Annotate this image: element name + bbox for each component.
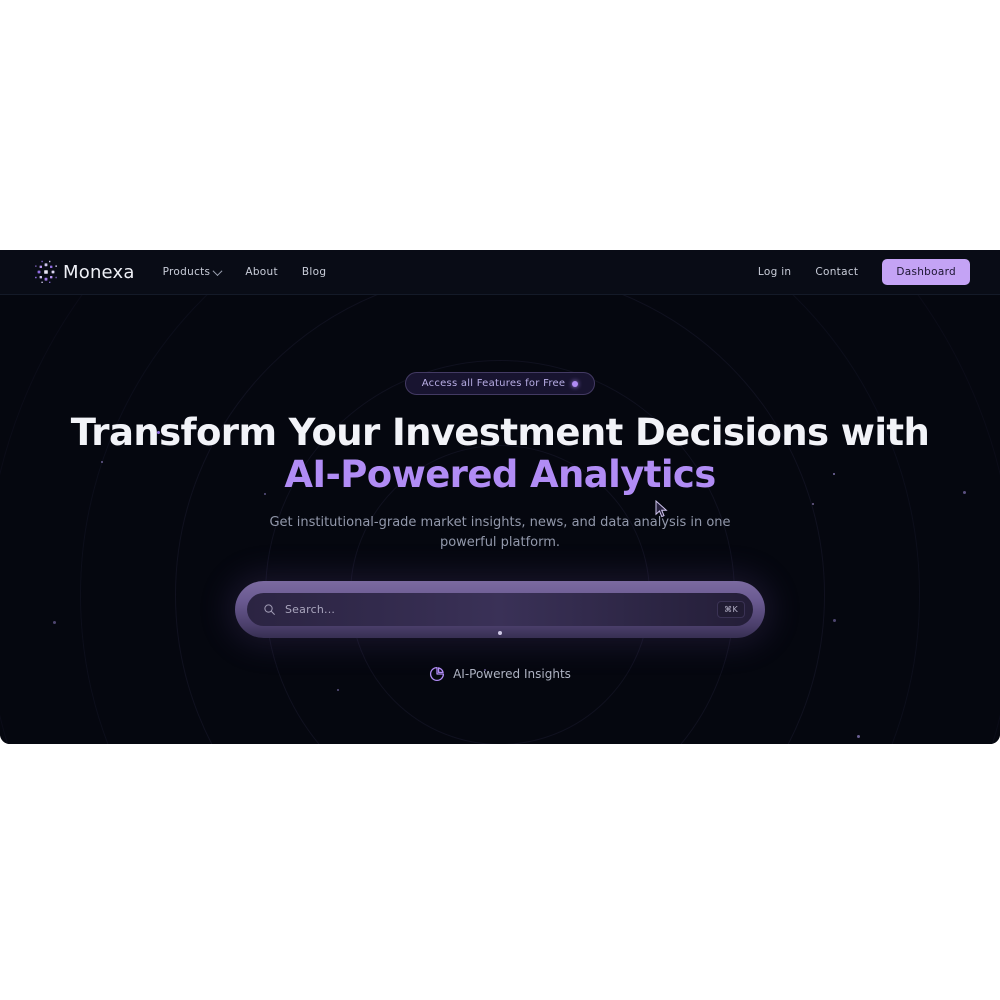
nav-item-products[interactable]: Products xyxy=(163,266,222,278)
dashboard-button[interactable]: Dashboard xyxy=(882,259,970,285)
website-viewport: Monexa Products About Blog Log in Contac… xyxy=(0,250,1000,744)
promo-badge-label: Access all Features for Free xyxy=(422,378,566,389)
navbar-right-group: Log in Contact Dashboard xyxy=(758,259,970,285)
site-logo[interactable]: Monexa xyxy=(34,260,135,284)
feature-ai-insights[interactable]: AI-Powered Insights xyxy=(429,666,571,682)
search-icon xyxy=(263,603,276,616)
nav-item-blog[interactable]: Blog xyxy=(302,266,326,278)
sparkle-dot-icon xyxy=(572,381,578,387)
navbar-left-group: Monexa Products About Blog xyxy=(34,260,326,284)
feature-ai-insights-label: AI-Powered Insights xyxy=(453,667,571,681)
headline-line-2-accent: AI-Powered Analytics xyxy=(20,454,980,496)
search-field[interactable]: Search... ⌘K xyxy=(247,593,753,626)
search-input[interactable]: Search... xyxy=(285,603,717,616)
nav-item-about[interactable]: About xyxy=(245,266,278,278)
promo-badge[interactable]: Access all Features for Free xyxy=(405,372,596,395)
nav-item-products-label: Products xyxy=(163,266,211,278)
search-shortcut-badge[interactable]: ⌘K xyxy=(717,601,745,618)
login-link[interactable]: Log in xyxy=(758,266,791,278)
search-indicator-dot xyxy=(498,631,502,635)
logo-wordmark: Monexa xyxy=(63,262,135,283)
navbar-links: Products About Blog xyxy=(163,266,327,278)
site-navbar: Monexa Products About Blog Log in Contac… xyxy=(0,250,1000,295)
chevron-down-icon xyxy=(213,266,223,276)
hero-content: Access all Features for Free Transform Y… xyxy=(0,295,1000,682)
page-title: Transform Your Investment Decisions with… xyxy=(20,412,980,496)
contact-link[interactable]: Contact xyxy=(815,266,858,278)
search-bar-container[interactable]: Search... ⌘K xyxy=(235,581,765,638)
hero-subtitle: Get institutional-grade market insights,… xyxy=(265,513,735,553)
headline-line-1: Transform Your Investment Decisions with xyxy=(71,411,930,454)
pie-chart-icon xyxy=(429,666,445,682)
particle-cluster-icon xyxy=(34,260,58,284)
hero-section: Access all Features for Free Transform Y… xyxy=(0,295,1000,744)
page-root: Monexa Products About Blog Log in Contac… xyxy=(0,0,1000,1000)
